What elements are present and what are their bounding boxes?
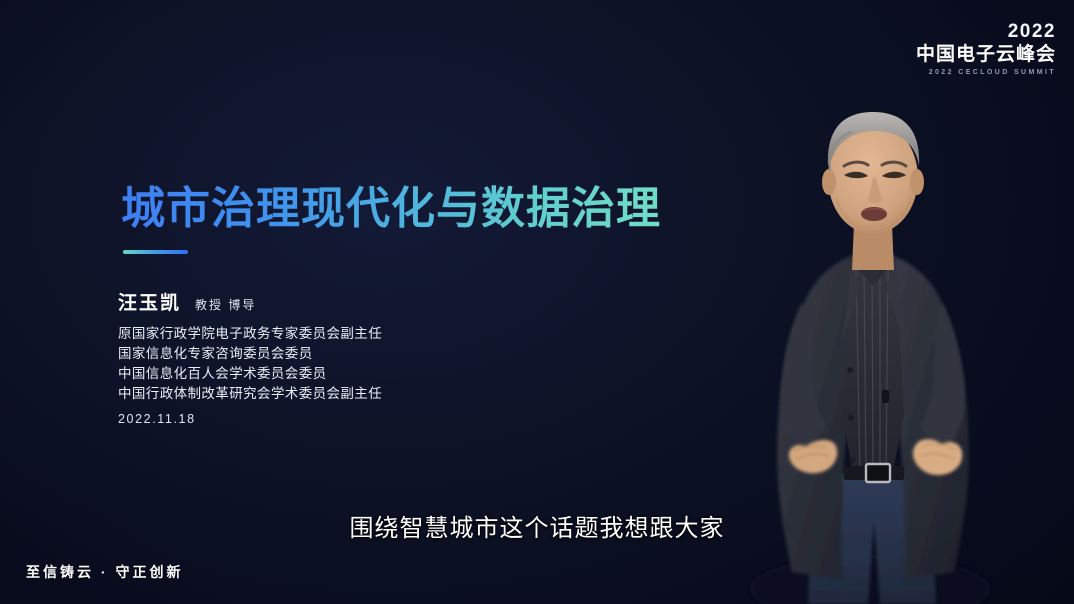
speaker-rank: 教授 博导 [195,296,256,313]
slide-title: 城市治理现代化与数据治理 [121,172,661,236]
logo-name-cn: 中国电子云峰会 [916,45,1056,64]
speaker-name: 汪玉凯 [118,288,181,315]
presentation-slide: 2022 中国电子云峰会 2022 CECLOUD SUMMIT 城市治理现代化… [0,0,1074,604]
speaker-credential: 中国信息化百人会学术委员会委员 [118,364,382,384]
logo-year: 2022 [916,22,1056,41]
subtitle-caption: 围绕智慧城市这个话题我想跟大家 [0,508,1074,543]
speaker-credential: 原国家行政学院电子政务专家委员会副主任 [118,324,382,344]
speaker-credential: 中国行政体制改革研究会学术委员会副主任 [118,384,382,404]
event-logo: 2022 中国电子云峰会 2022 CECLOUD SUMMIT [916,22,1056,76]
speaker-credential: 国家信息化专家咨询委员会委员 [118,344,382,364]
logo-name-en: 2022 CECLOUD SUMMIT [916,69,1056,76]
speaker-info: 汪玉凯 教授 博导 原国家行政学院电子政务专家委员会副主任 国家信息化专家咨询委… [118,288,382,426]
title-divider [123,250,188,254]
footer-tagline: 至信铸云 · 守正创新 [26,562,183,582]
speaker-name-row: 汪玉凯 教授 博导 [118,288,382,315]
speaker-date: 2022.11.18 [118,412,382,426]
